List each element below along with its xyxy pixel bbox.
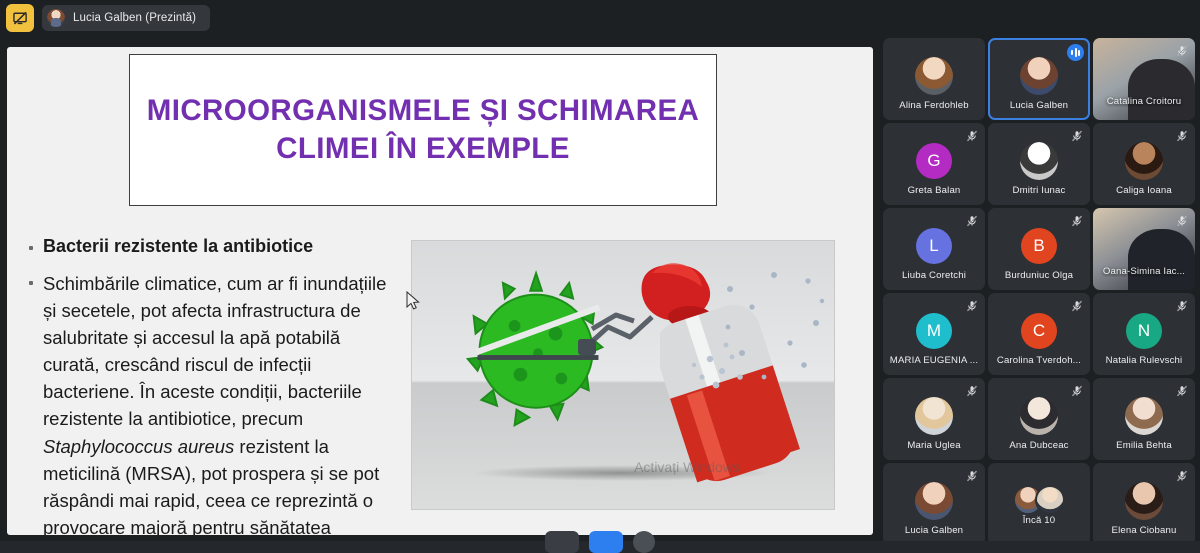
- participant-tile[interactable]: N Natalia Rulevschi: [1093, 293, 1195, 375]
- participant-tile[interactable]: G Greta Balan: [883, 123, 985, 205]
- toolbar-icon-group: [545, 541, 655, 553]
- participant-name: Elena Ciobanu: [1093, 525, 1195, 536]
- participant-tile[interactable]: Oana-Simina Iac...: [1093, 208, 1195, 290]
- participants-rail[interactable]: Alina Ferdohleb Lucia Galben Catalina Cr…: [876, 36, 1200, 553]
- participant-name: Dmitri Iunac: [988, 185, 1090, 196]
- participant-tile[interactable]: Elena Ciobanu: [1093, 463, 1195, 545]
- avatar-initial: G: [916, 143, 952, 179]
- participant-name: MARIA EUGENIA ...: [883, 355, 985, 366]
- presenter-pill[interactable]: Lucia Galben (Prezintă): [42, 5, 210, 31]
- top-bar: Lucia Galben (Prezintă): [0, 0, 1200, 36]
- list-item: Bacterii rezistente la antibiotice: [29, 235, 397, 258]
- paragraph-part-one: Schimbările climatice, cum ar fi inundaț…: [43, 273, 386, 430]
- participant-name: Încă 10: [988, 515, 1090, 526]
- participant-tile[interactable]: Emilia Behta: [1093, 378, 1195, 460]
- bullet-paragraph: Schimbările climatice, cum ar fi inundaț…: [43, 270, 397, 536]
- stop-screen-share-icon[interactable]: [6, 4, 34, 32]
- mouse-cursor-icon: [406, 291, 420, 311]
- participant-name: Burduniuc Olga: [988, 270, 1090, 281]
- mic-off-icon: [966, 385, 978, 397]
- mic-off-icon: [1176, 45, 1188, 57]
- avatar: [915, 397, 953, 435]
- participant-tile[interactable]: L Liuba Coretchi: [883, 208, 985, 290]
- species-name-italic: Staphylococcus aureus: [43, 436, 234, 457]
- mic-off-icon: [1176, 385, 1188, 397]
- slide-image: Activați Windows: [411, 240, 835, 510]
- mic-off-icon: [1176, 215, 1188, 227]
- participant-tile[interactable]: Încă 10: [988, 463, 1090, 545]
- avatar: [1125, 397, 1163, 435]
- video-feed: [1128, 59, 1195, 120]
- bullet-heading: Bacterii rezistente la antibiotice: [43, 235, 313, 258]
- mic-off-icon: [966, 300, 978, 312]
- avatar: [1020, 142, 1058, 180]
- participant-grid: Alina Ferdohleb Lucia Galben Catalina Cr…: [883, 38, 1195, 545]
- active-speaker-icon: [1067, 44, 1084, 61]
- participant-name: Liuba Coretchi: [883, 270, 985, 281]
- bullet-icon: [29, 281, 33, 285]
- avatar-initial: B: [1021, 228, 1057, 264]
- mic-off-icon: [966, 215, 978, 227]
- meeting-toolbar[interactable]: [0, 541, 1200, 553]
- slide-body: Bacterii rezistente la antibiotice Schim…: [29, 235, 397, 535]
- mic-off-icon: [1176, 130, 1188, 142]
- participant-name: Carolina Tverdoh...: [988, 355, 1090, 366]
- meeting-window: Lucia Galben (Prezintă) MICROORGANISMELE…: [0, 0, 1200, 553]
- mic-off-icon: [1071, 215, 1083, 227]
- participant-tile[interactable]: Alina Ferdohleb: [883, 38, 985, 120]
- participant-tile[interactable]: Lucia Galben: [883, 463, 985, 545]
- video-feed: [1128, 229, 1195, 290]
- avatar: [1125, 142, 1163, 180]
- participant-name: Emilia Behta: [1093, 440, 1195, 451]
- participant-name: Ana Dubceac: [988, 440, 1090, 451]
- mic-off-icon: [1071, 300, 1083, 312]
- avatar-initial: C: [1021, 313, 1057, 349]
- avatar-initial: N: [1126, 313, 1162, 349]
- participant-tile[interactable]: Dmitri Iunac: [988, 123, 1090, 205]
- avatar-initial: L: [916, 228, 952, 264]
- participant-tile[interactable]: M MARIA EUGENIA ...: [883, 293, 985, 375]
- participant-name: Maria Uglea: [883, 440, 985, 451]
- participant-name: Greta Balan: [883, 185, 985, 196]
- page-title: MICROORGANISMELE ȘI SCHIMAREA CLIMEI ÎN …: [130, 92, 716, 168]
- mic-off-icon: [1071, 385, 1083, 397]
- participant-tile[interactable]: Lucia Galben: [988, 38, 1090, 120]
- mic-off-icon: [1176, 470, 1188, 482]
- bullet-icon: [29, 246, 33, 250]
- windows-watermark: Activați Windows: [562, 459, 812, 475]
- participant-name: Lucia Galben: [988, 100, 1090, 111]
- mic-off-icon: [966, 130, 978, 142]
- more-options-icon[interactable]: [633, 531, 655, 553]
- avatar: [915, 482, 953, 520]
- participant-name: Catalina Croitoru: [1093, 96, 1195, 107]
- participant-name: Lucia Galben: [883, 525, 985, 536]
- participant-tile[interactable]: Catalina Croitoru: [1093, 38, 1195, 120]
- presenter-name: Lucia Galben (Prezintă): [73, 12, 196, 24]
- avatar: [1020, 57, 1058, 95]
- camera-icon[interactable]: [589, 531, 623, 553]
- avatar: [47, 9, 65, 27]
- mic-off-icon: [966, 470, 978, 482]
- participant-name: Oana-Simina Iac...: [1093, 266, 1195, 277]
- avatar: [1125, 482, 1163, 520]
- avatar: [1020, 397, 1058, 435]
- mic-off-icon: [1071, 130, 1083, 142]
- avatar-initial: M: [916, 313, 952, 349]
- mic-off-icon: [1176, 300, 1188, 312]
- participant-tile[interactable]: C Carolina Tverdoh...: [988, 293, 1090, 375]
- participant-tile[interactable]: Ana Dubceac: [988, 378, 1090, 460]
- slide-title-box: MICROORGANISMELE ȘI SCHIMAREA CLIMEI ÎN …: [129, 54, 717, 206]
- presentation-slide: MICROORGANISMELE ȘI SCHIMAREA CLIMEI ÎN …: [7, 47, 873, 535]
- participant-name: Natalia Rulevschi: [1093, 355, 1195, 366]
- participant-name: Caliga Ioana: [1093, 185, 1195, 196]
- avatar: [915, 57, 953, 95]
- microphone-icon[interactable]: [545, 531, 579, 553]
- overflow-avatars: [1013, 485, 1065, 515]
- participant-name: Alina Ferdohleb: [883, 100, 985, 111]
- list-item: Schimbările climatice, cum ar fi inundaț…: [29, 270, 397, 536]
- participant-tile[interactable]: Caliga Ioana: [1093, 123, 1195, 205]
- participant-tile[interactable]: Maria Uglea: [883, 378, 985, 460]
- participant-tile[interactable]: B Burduniuc Olga: [988, 208, 1090, 290]
- shared-screen-stage[interactable]: MICROORGANISMELE ȘI SCHIMAREA CLIMEI ÎN …: [0, 36, 876, 541]
- pill-granules-icon: [712, 261, 832, 431]
